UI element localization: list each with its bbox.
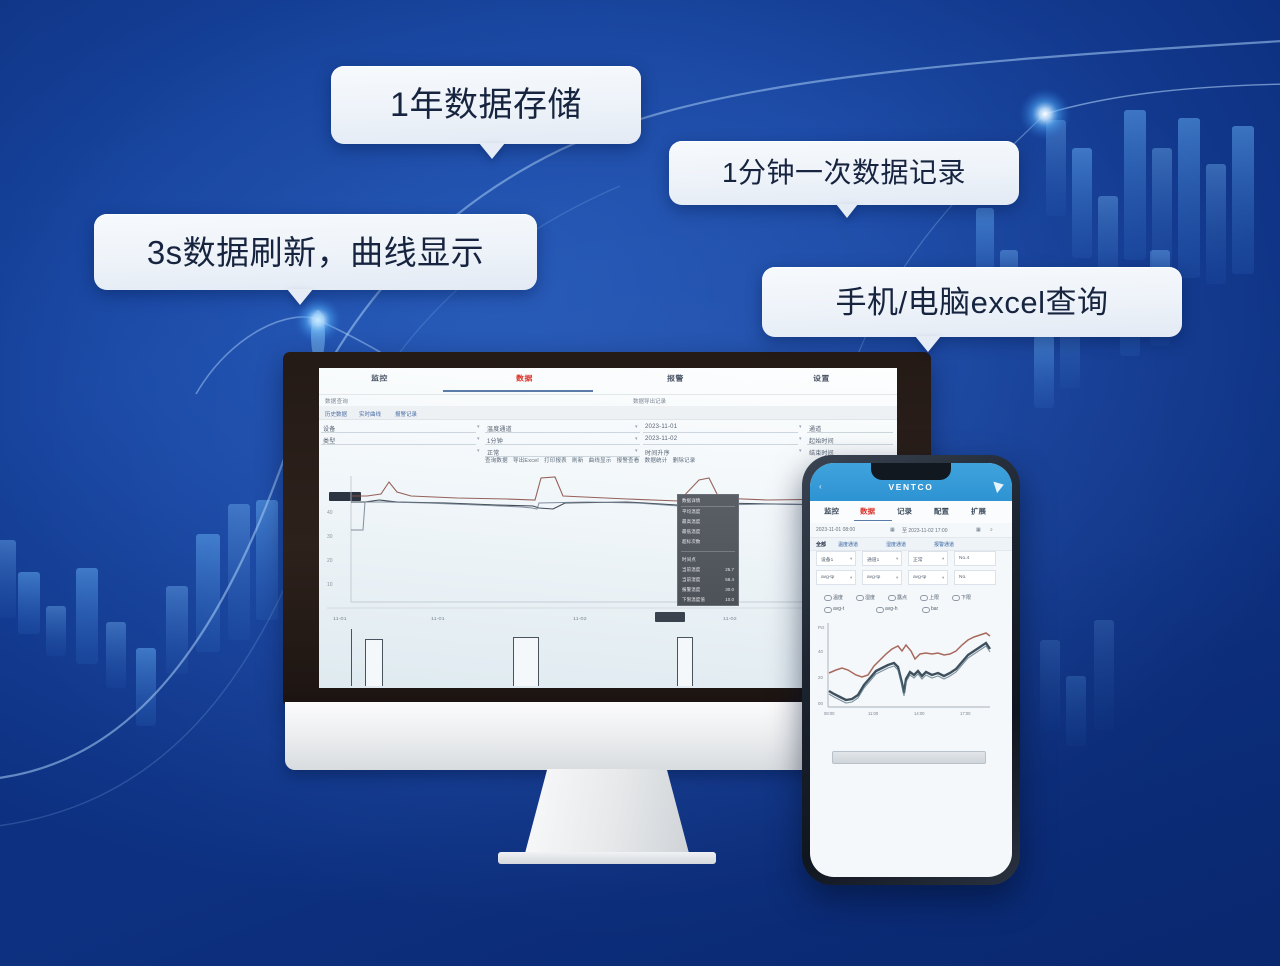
chart-x-tick: 11-02 xyxy=(573,616,587,621)
tooltip-divider xyxy=(681,551,735,552)
phone-tab-record[interactable]: 记录 xyxy=(897,507,912,517)
phone-x-tick: 14:00 xyxy=(914,711,924,716)
legend-label[interactable]: 下限 xyxy=(961,594,971,601)
tooltip-row-label: 当前温度 xyxy=(682,567,700,573)
grid-value: avg-tp xyxy=(821,575,834,580)
callout-refresh: 3s数据刷新，曲线显示 xyxy=(94,214,537,290)
phone-tab-extend[interactable]: 扩展 xyxy=(971,507,986,517)
toolbar-button-curve[interactable]: 曲线显示 xyxy=(589,458,612,464)
breadcrumb-item[interactable]: 实时曲线 xyxy=(359,410,381,418)
field-underline xyxy=(321,444,476,445)
phone-x-tick: 11:00 xyxy=(868,711,878,716)
desktop-tabbar: 监控 数据 报警 设置 xyxy=(319,368,897,395)
tab-alarm[interactable]: 报警 xyxy=(667,374,684,383)
legend-label[interactable]: avg-h xyxy=(885,606,898,612)
chevron-down-icon[interactable]: ▾ xyxy=(896,556,898,562)
callout-tail xyxy=(915,336,941,352)
phone-date-range: 2023-11-01 08:00 ▦ 至 2023-11-02 17:00 ▦ … xyxy=(810,524,1012,536)
callout-query-label: 手机/电脑excel查询 xyxy=(836,287,1109,318)
toolbar-button-alarm[interactable]: 报警查看 xyxy=(617,458,640,464)
legend-swatch xyxy=(888,595,896,601)
tooltip-row-label: 最高温度 xyxy=(682,519,700,525)
legend-label[interactable]: 上限 xyxy=(929,594,939,601)
grid-value: No. xyxy=(959,575,966,580)
grid-value: 正常 xyxy=(913,556,923,563)
chart-x-tick: 11-01 xyxy=(333,616,347,621)
toolbar-button-delete[interactable]: 删除记录 xyxy=(673,458,696,464)
phone-notch xyxy=(871,463,951,480)
legend-label[interactable]: bar xyxy=(931,606,938,612)
tooltip-row-value: 58.4 xyxy=(725,577,734,582)
legend-label[interactable]: 温度 xyxy=(833,594,843,601)
smartphone: ‹ VENTCO 监控 数据 记录 配置 扩展 2023-11-01 08:00… xyxy=(802,455,1020,885)
grid-value: avg-tp xyxy=(867,575,880,580)
bar-item xyxy=(513,637,539,686)
phone-x-tick: 17:00 xyxy=(960,711,970,716)
legend-label[interactable]: 露点 xyxy=(897,594,907,601)
tooltip-row-value: 10.0 xyxy=(725,597,734,602)
chevron-down-icon[interactable]: ▾ xyxy=(635,436,638,442)
tab-monitor[interactable]: 监控 xyxy=(371,374,388,383)
tooltip-row-label: 最低温度 xyxy=(682,529,700,535)
desktop-subtitle-right: 数据导出记录 xyxy=(633,397,666,405)
chevron-down-icon[interactable]: ▾ xyxy=(896,575,898,581)
phone-chip-all[interactable]: 全部 xyxy=(816,541,826,548)
chevron-down-icon[interactable]: ▾ xyxy=(942,556,944,562)
grid-value: 设备1 xyxy=(821,556,833,563)
legend-swatch xyxy=(876,607,884,613)
svg-text:40: 40 xyxy=(818,649,823,654)
tooltip-row-label: 当前湿度 xyxy=(682,577,700,583)
phone-frame: ‹ VENTCO 监控 数据 记录 配置 扩展 2023-11-01 08:00… xyxy=(802,455,1020,885)
tooltip-row-label: 下限温度值 xyxy=(682,597,705,603)
phone-line-chart: Pct 40 20 00 08:00 11:00 14:00 17:00 xyxy=(816,621,992,721)
callout-tail xyxy=(479,143,505,159)
chevron-down-icon[interactable]: ▾ xyxy=(635,448,638,454)
phone-tab-data[interactable]: 数据 xyxy=(860,507,875,517)
callout-storage-label: 1年数据存储 xyxy=(390,88,582,122)
field-underline xyxy=(643,444,798,445)
field-underline xyxy=(321,432,476,433)
desktop-toolbar: 查询数据 导出Excel 打印报表 刷新 曲线显示 报警查看 数据统计 删除记录 xyxy=(485,456,695,464)
tooltip-title: 数据详情 xyxy=(682,498,700,504)
chevron-down-icon[interactable]: ▾ xyxy=(799,436,802,442)
svg-text:20: 20 xyxy=(818,675,823,680)
tooltip-row-value: 30.0 xyxy=(725,587,734,592)
monitor-stand-base xyxy=(498,852,716,864)
legend-label[interactable]: avg-t xyxy=(833,606,844,612)
grid-value: 通道1 xyxy=(867,556,879,563)
toolbar-button-export[interactable]: 导出Excel xyxy=(513,458,539,464)
chart-x-tick: 11-02 xyxy=(723,616,737,621)
chevron-down-icon[interactable]: ▾ xyxy=(477,448,480,454)
phone-app-title: VENTCO xyxy=(810,482,1012,492)
promo-poster: 1年数据存储 3s数据刷新，曲线显示 1分钟一次数据记录 手机/电脑excel查… xyxy=(0,0,1280,966)
tab-settings[interactable]: 设置 xyxy=(813,374,830,383)
chevron-down-icon[interactable]: ▾ xyxy=(635,424,638,430)
phone-range-slider[interactable] xyxy=(832,751,986,764)
bar-axis xyxy=(351,629,352,686)
callout-refresh-label: 3s数据刷新，曲线显示 xyxy=(147,236,484,269)
tab-data[interactable]: 数据 xyxy=(516,374,533,383)
phone-data-grid: 设备1 通道1 正常 No.4 avg-tp avg-tp avg-tp No.… xyxy=(810,551,1012,587)
desktop-subtitle: 数据查询 xyxy=(325,397,348,405)
breadcrumb-item[interactable]: 历史数据 xyxy=(325,410,347,418)
legend-swatch xyxy=(856,595,864,601)
phone-tab-monitor[interactable]: 监控 xyxy=(824,507,839,517)
toolbar-button-query[interactable]: 查询数据 xyxy=(485,458,508,464)
filter-value[interactable]: 2023-11-01 xyxy=(645,424,677,430)
phone-tabbar: 监控 数据 记录 配置 扩展 xyxy=(810,501,1012,523)
chevron-down-icon[interactable]: ▾ xyxy=(799,424,802,430)
chevron-down-icon[interactable]: ▾ xyxy=(942,575,944,581)
tooltip-row-label: 超标次数 xyxy=(682,539,700,545)
phone-tab-underline xyxy=(854,520,892,521)
field-underline xyxy=(807,444,893,445)
breadcrumb-item[interactable]: 报警记录 xyxy=(395,410,417,418)
tooltip-row-label: 时间点 xyxy=(682,557,696,563)
legend-swatch xyxy=(824,607,832,613)
field-underline xyxy=(807,432,893,433)
legend-swatch xyxy=(824,595,832,601)
chart-x-active-tag[interactable] xyxy=(655,612,685,622)
chevron-down-icon[interactable]: ▾ xyxy=(477,424,480,430)
phone-date-start[interactable]: 2023-11-01 08:00 xyxy=(816,527,855,533)
svg-text:Pct: Pct xyxy=(818,625,825,630)
phone-chip-temp[interactable]: 温度通道 xyxy=(838,541,858,548)
legend-label[interactable]: 湿度 xyxy=(865,594,875,601)
callout-logging-label: 1分钟一次数据记录 xyxy=(722,159,966,187)
toolbar-button-print[interactable]: 打印报表 xyxy=(544,458,567,464)
bar-item xyxy=(677,637,693,686)
calendar-icon[interactable]: ▦ xyxy=(976,527,981,533)
tooltip-divider xyxy=(681,506,735,507)
field-underline xyxy=(485,432,640,433)
callout-tail xyxy=(287,289,313,305)
chevron-down-icon[interactable]: ▾ xyxy=(799,448,802,454)
phone-screen: ‹ VENTCO 监控 数据 记录 配置 扩展 2023-11-01 08:00… xyxy=(810,463,1012,877)
monitor-stand-neck xyxy=(524,769,690,857)
calendar-icon[interactable]: ▦ xyxy=(890,527,895,533)
desktop-breadcrumb-bar: 历史数据 实时曲线 报警记录 xyxy=(319,406,897,420)
tooltip-row-label: 报警温度 xyxy=(682,587,700,593)
field-underline xyxy=(485,444,640,445)
chart-x-tick: 11-01 xyxy=(431,616,445,621)
callout-tail xyxy=(836,204,858,218)
chart-tooltip: 数据详情 平均温度 最高温度 最低温度 超标次数 时间点 当前温度 25.7 当… xyxy=(677,494,739,606)
legend-swatch xyxy=(920,595,928,601)
chevron-down-icon[interactable]: ▾ xyxy=(477,436,480,442)
legend-swatch xyxy=(922,607,930,613)
tab-active-underline xyxy=(443,390,593,392)
svg-text:00: 00 xyxy=(818,701,823,706)
bar-item xyxy=(365,639,383,686)
field-underline xyxy=(643,432,798,433)
chevron-down-icon[interactable]: ▾ xyxy=(850,575,852,581)
filter-value[interactable]: 2023-11-02 xyxy=(645,436,677,442)
legend-swatch xyxy=(952,595,960,601)
tooltip-row-value: 25.7 xyxy=(725,567,734,572)
phone-date-end[interactable]: 至 2023-11-02 17:00 xyxy=(902,527,948,534)
grid-value: No.4 xyxy=(959,556,969,561)
search-icon[interactable]: ⌕ xyxy=(990,527,993,533)
phone-tab-config[interactable]: 配置 xyxy=(934,507,949,517)
phone-legend: 温度 湿度 露点 上限 下限 avg-t avg-h bar xyxy=(810,591,1012,617)
toolbar-button-stats[interactable]: 数据统计 xyxy=(645,458,668,464)
grid-value: avg-tp xyxy=(913,575,926,580)
toolbar-button-refresh[interactable]: 刷新 xyxy=(572,458,583,464)
callout-storage: 1年数据存储 xyxy=(331,66,641,144)
phone-chip-alarm[interactable]: 报警通道 xyxy=(934,541,954,548)
phone-chip-humidity[interactable]: 湿度通道 xyxy=(886,541,906,548)
tooltip-row-label: 平均温度 xyxy=(682,509,700,515)
callout-query: 手机/电脑excel查询 xyxy=(762,267,1182,337)
phone-chip-row: 全部 温度通道 湿度通道 报警通道 xyxy=(810,537,1012,551)
phone-chart-canvas: Pct 40 20 00 xyxy=(816,621,992,721)
chevron-down-icon[interactable]: ▾ xyxy=(850,556,852,562)
callout-logging: 1分钟一次数据记录 xyxy=(669,141,1019,205)
phone-x-tick: 08:00 xyxy=(824,711,834,716)
